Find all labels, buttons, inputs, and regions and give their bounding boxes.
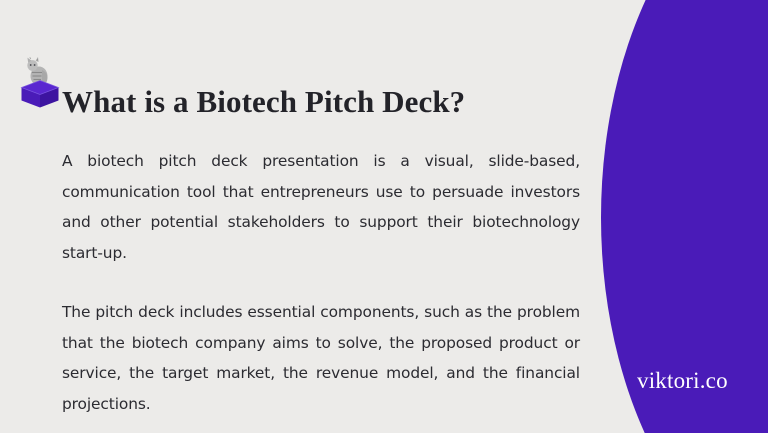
cat-on-purple-cube-logo-icon: [18, 56, 62, 108]
body-paragraph-1: A biotech pitch deck presentation is a v…: [62, 146, 580, 268]
body-paragraph-2: The pitch deck includes essential compon…: [62, 297, 580, 419]
cube-glyph: [22, 81, 59, 108]
brand-wordmark: viktori.co: [637, 368, 728, 394]
slide-canvas: viktori.co: [0, 0, 768, 433]
body-copy: A biotech pitch deck presentation is a v…: [62, 146, 580, 419]
page-title: What is a Biotech Pitch Deck?: [62, 84, 465, 120]
